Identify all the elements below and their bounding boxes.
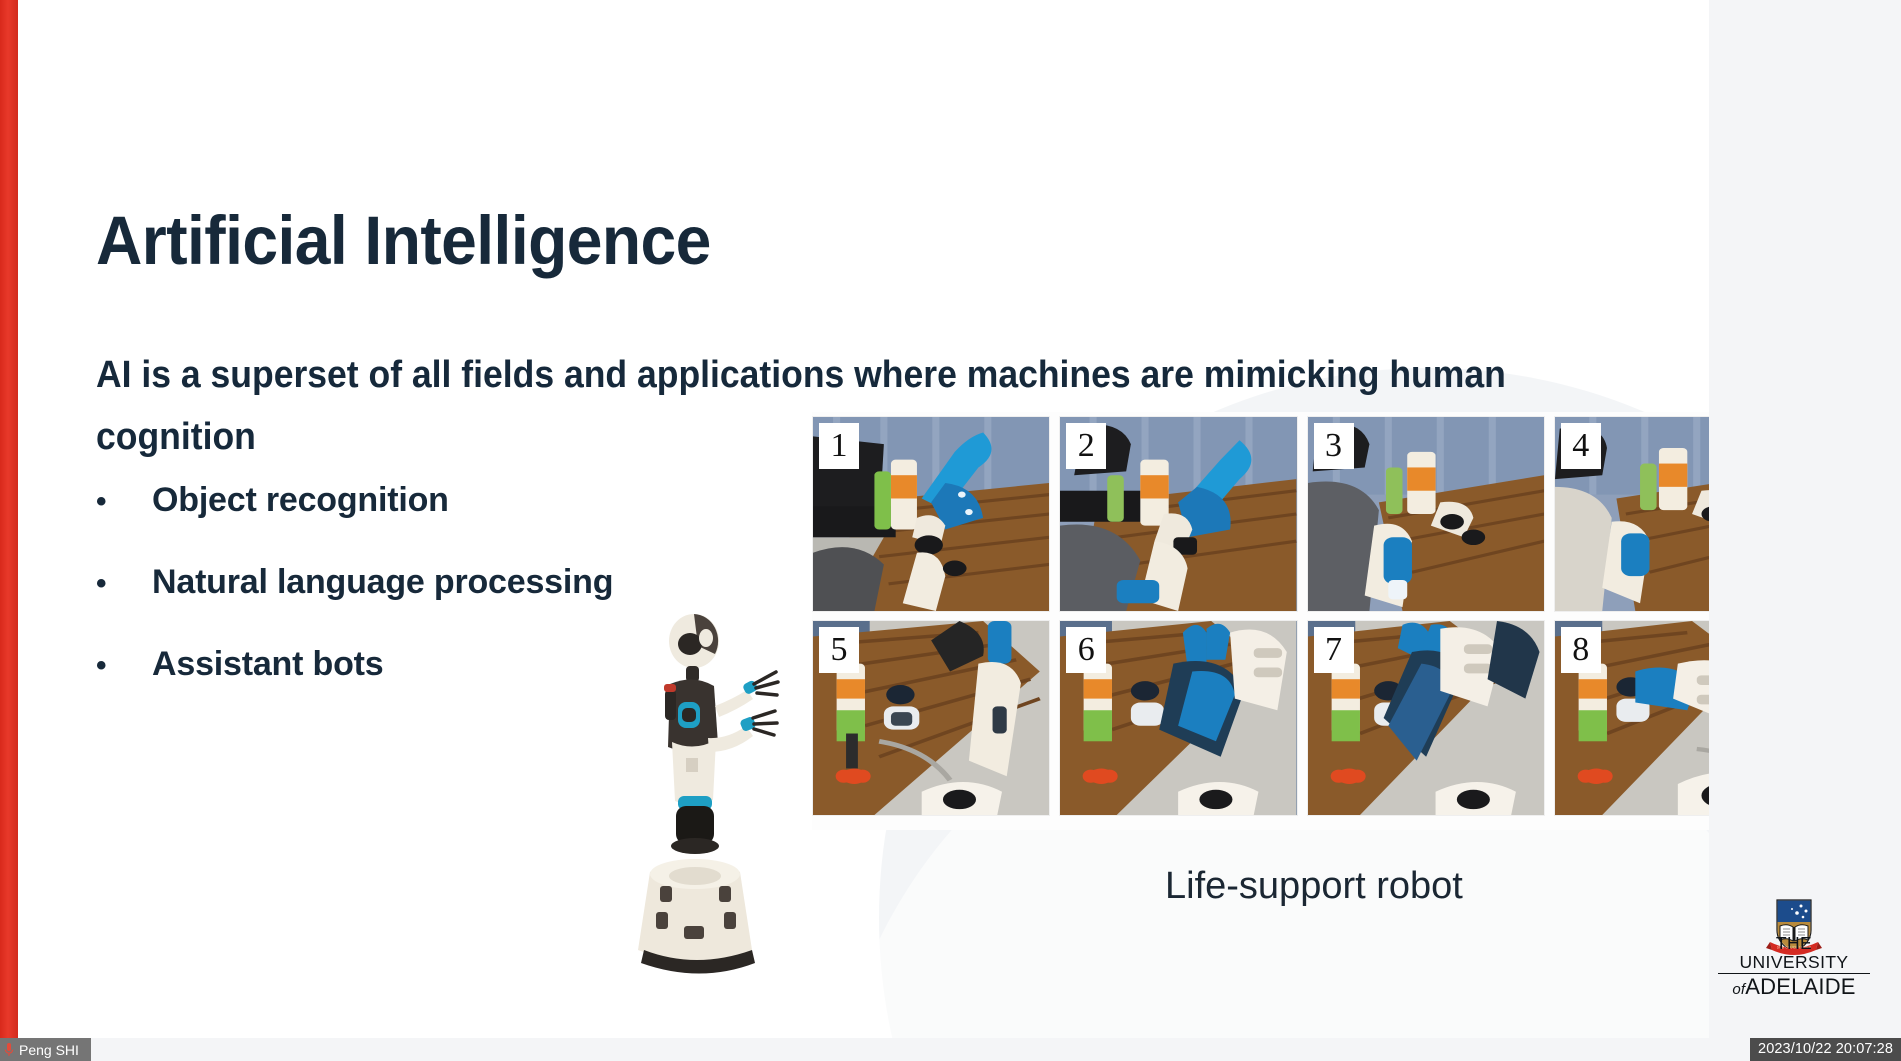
list-item: • Natural language processing	[96, 542, 856, 624]
wordmark-of: of	[1732, 981, 1745, 998]
university-wordmark: THE UNIVERSITY ofADELAIDE	[1718, 934, 1870, 1002]
frame-number: 8	[1561, 627, 1601, 673]
bullet-marker-icon: •	[96, 544, 152, 624]
frame-7: 7	[1307, 620, 1545, 816]
list-item: • Object recognition	[96, 460, 856, 542]
frame-8: 8	[1554, 620, 1709, 816]
lead-paragraph: AI is a superset of all fields and appli…	[96, 344, 1629, 468]
left-accent-bar	[0, 0, 18, 1038]
page-title: Artificial Intelligence	[96, 206, 711, 275]
bullet-label: Object recognition	[152, 460, 449, 540]
presenter-name: Peng SHI	[19, 1042, 79, 1058]
presentation-stage: Artificial Intelligence AI is a superset…	[0, 0, 1901, 1061]
wordmark-line2: ADELAIDE	[1745, 974, 1855, 999]
bullet-label: Natural language processing	[152, 542, 613, 622]
bullet-label: Assistant bots	[152, 624, 383, 704]
bullet-list: • Object recognition • Natural language …	[96, 460, 856, 706]
figure-caption: Life-support robot	[1165, 865, 1463, 908]
slide-canvas: Artificial Intelligence AI is a superset…	[0, 0, 1709, 1038]
wordmark-line1: THE UNIVERSITY	[1718, 934, 1870, 974]
grid-row-bottom: 5	[812, 620, 1709, 816]
status-timestamp: 2023/10/22 20:07:28	[1750, 1038, 1901, 1061]
frame-number: 7	[1314, 627, 1354, 673]
presenter-name-badge: Peng SHI	[0, 1038, 91, 1061]
bullet-marker-icon: •	[96, 462, 152, 542]
bullet-marker-icon: •	[96, 626, 152, 706]
frame-6: 6	[1059, 620, 1297, 816]
frame-number: 6	[1066, 627, 1106, 673]
list-item: • Assistant bots	[96, 624, 856, 706]
image-sequence-grid: 1	[812, 412, 1709, 830]
microphone-icon	[4, 1042, 14, 1058]
university-logo: SUB CRUCE LUMEN THE UNIVERSITY ofADELAID…	[1718, 898, 1870, 1002]
